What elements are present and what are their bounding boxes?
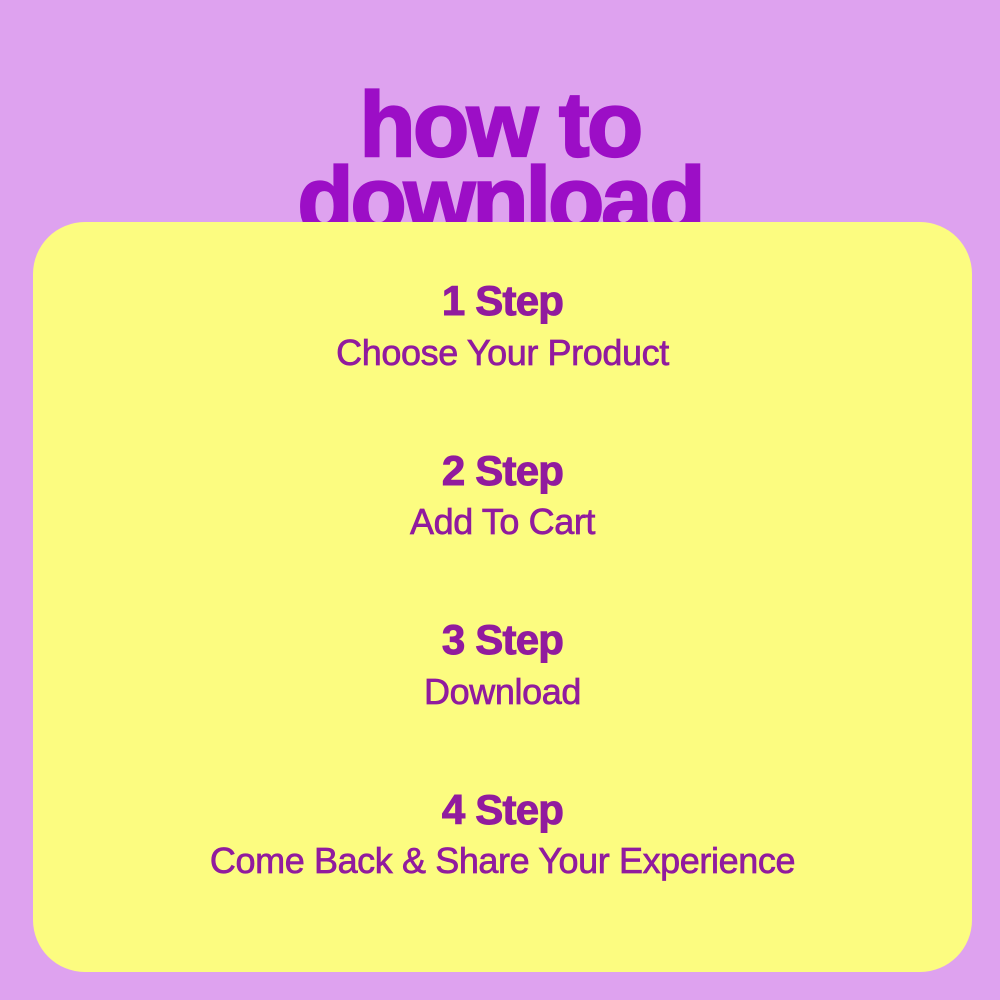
steps-list: 1 Step Choose Your Product 2 Step Add To…	[33, 222, 972, 972]
list-item: 3 Step Download	[33, 615, 972, 719]
step-title: 2 Step	[33, 446, 972, 496]
page-title: how to download	[0, 88, 1000, 239]
step-description: Add To Cart	[33, 495, 972, 549]
step-title: 3 Step	[33, 615, 972, 665]
step-description: Come Back & Share Your Experience	[33, 834, 972, 888]
step-description: Choose Your Product	[33, 326, 972, 380]
step-title: 1 Step	[33, 276, 972, 326]
step-description: Download	[33, 665, 972, 719]
poster-canvas: how to download 1 Step Choose Your Produ…	[0, 0, 1000, 1000]
list-item: 1 Step Choose Your Product	[33, 276, 972, 380]
list-item: 2 Step Add To Cart	[33, 446, 972, 550]
step-title: 4 Step	[33, 785, 972, 835]
steps-card: 1 Step Choose Your Product 2 Step Add To…	[33, 222, 972, 972]
list-item: 4 Step Come Back & Share Your Experience	[33, 785, 972, 889]
